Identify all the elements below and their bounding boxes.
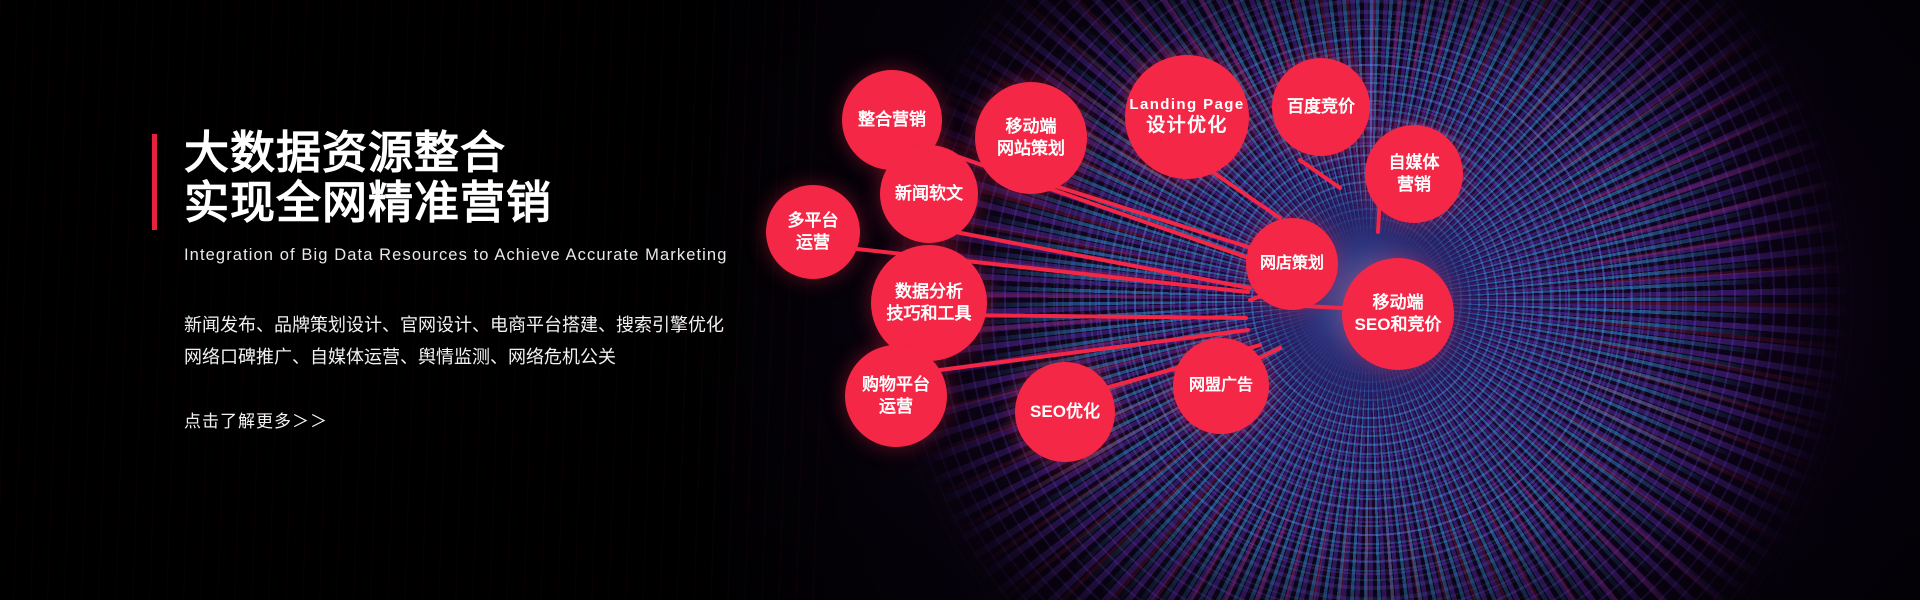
node-data-analysis-tools-line-2: 技巧和工具 bbox=[887, 303, 972, 325]
node-mobile-seo-bidding[interactable]: 移动端 SEO和竞价 bbox=[1342, 258, 1454, 370]
node-ad-network[interactable]: 网盟广告 bbox=[1173, 338, 1269, 434]
node-landing-page-design[interactable]: Landing Page 设计优化 bbox=[1125, 55, 1249, 179]
node-mobile-seo-bidding-line-2: SEO和竞价 bbox=[1355, 314, 1442, 336]
node-mobile-site-planning[interactable]: 移动端 网站策划 bbox=[975, 82, 1087, 194]
description-line-2: 网络口碑推广、自媒体运营、舆情监测、网络危机公关 bbox=[184, 341, 772, 373]
marketing-banner: 大数据资源整合 实现全网精准营销 Integration of Big Data… bbox=[0, 0, 1920, 600]
node-landing-page-design-line-2: 设计优化 bbox=[1146, 114, 1228, 139]
node-seo-optimization[interactable]: SEO优化 bbox=[1015, 362, 1115, 462]
node-seo-optimization-line-1: SEO优化 bbox=[1030, 401, 1100, 423]
node-landing-page-design-line-1: Landing Page bbox=[1129, 95, 1244, 115]
node-online-store-planning-line-1: 网店策划 bbox=[1260, 254, 1324, 275]
node-multi-platform-ops-line-1: 多平台 bbox=[788, 210, 839, 232]
node-self-media-marketing-line-2: 营销 bbox=[1397, 174, 1431, 196]
node-self-media-marketing-line-1: 自媒体 bbox=[1389, 152, 1440, 174]
node-mobile-site-planning-line-1: 移动端 bbox=[1006, 116, 1057, 138]
node-mobile-seo-bidding-line-1: 移动端 bbox=[1373, 292, 1424, 314]
copy-block: 大数据资源整合 实现全网精准营销 Integration of Big Data… bbox=[152, 128, 772, 432]
connector-baidu-bidding bbox=[1300, 160, 1340, 188]
description-line-1: 新闻发布、品牌策划设计、官网设计、电商平台搭建、搜索引擎优化 bbox=[184, 309, 772, 341]
node-shopping-platform-ops-line-1: 购物平台 bbox=[862, 374, 930, 396]
node-ad-network-line-1: 网盟广告 bbox=[1189, 376, 1253, 397]
node-self-media-marketing[interactable]: 自媒体 营销 bbox=[1365, 125, 1463, 223]
headline-group: 大数据资源整合 实现全网精准营销 bbox=[152, 128, 772, 228]
headline-line-2: 实现全网精准营销 bbox=[184, 178, 772, 228]
node-mobile-site-planning-line-2: 网站策划 bbox=[997, 138, 1065, 160]
accent-bar bbox=[152, 134, 157, 230]
connector-news-soft-article bbox=[945, 230, 1250, 288]
subheadline: Integration of Big Data Resources to Ach… bbox=[184, 246, 772, 265]
network-marketing-diagram: 网络营销 思想 整合营销 移动端 网站策划 Landing Page 设计优化 … bbox=[780, 0, 1920, 600]
connector-data-analysis bbox=[948, 315, 1246, 318]
node-data-analysis-tools[interactable]: 数据分析 技巧和工具 bbox=[871, 245, 987, 361]
node-shopping-platform-ops-line-2: 运营 bbox=[879, 396, 913, 418]
node-shopping-platform-ops[interactable]: 购物平台 运营 bbox=[845, 345, 947, 447]
node-news-soft-article[interactable]: 新闻软文 bbox=[880, 145, 978, 243]
node-multi-platform-ops-line-2: 运营 bbox=[796, 232, 830, 254]
node-data-analysis-tools-line-1: 数据分析 bbox=[895, 281, 963, 303]
learn-more-link[interactable]: 点击了解更多＞＞ bbox=[184, 407, 328, 432]
node-news-soft-article-line-1: 新闻软文 bbox=[895, 183, 963, 205]
node-online-store-planning[interactable]: 网店策划 bbox=[1246, 218, 1338, 310]
node-multi-platform-ops[interactable]: 多平台 运营 bbox=[766, 185, 860, 279]
node-baidu-bidding[interactable]: 百度竞价 bbox=[1272, 58, 1370, 156]
headline-line-1: 大数据资源整合 bbox=[184, 128, 772, 178]
node-integrated-marketing-line-1: 整合营销 bbox=[858, 109, 926, 131]
node-baidu-bidding-line-1: 百度竞价 bbox=[1287, 96, 1355, 118]
